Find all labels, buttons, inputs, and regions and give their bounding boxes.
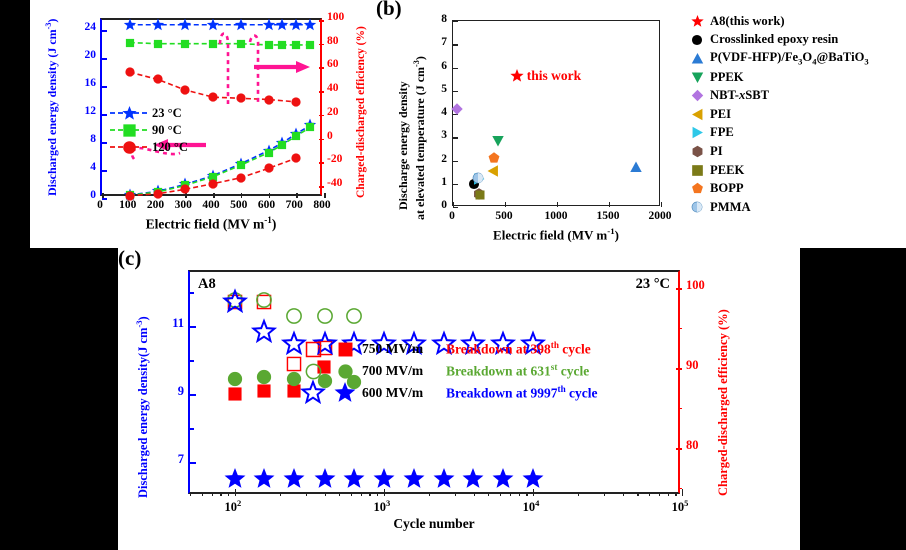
- panel-a-ytick-right: -40: [327, 177, 353, 189]
- panel-c-xtick: 104: [511, 498, 551, 515]
- panel-c-xtick: 102: [213, 498, 253, 515]
- panel-a-legend-label: 23 °C: [152, 106, 182, 121]
- panel-b-legend: A8(this work)Crosslinked epoxy resinP(VD…: [684, 12, 869, 217]
- panel-c-point: [314, 468, 336, 490]
- panel-c-label: (c): [118, 246, 141, 271]
- panel-b-legend-item[interactable]: PEI: [684, 105, 869, 124]
- panel-b-legend-item[interactable]: Crosslinked epoxy resin: [684, 31, 869, 50]
- panel-c-point: [227, 386, 243, 402]
- panel-c-chart: (c)A823 °C750 MV/mBreakdown at 398th cyc…: [118, 248, 800, 550]
- panel-c-legend-field: 750 MV/m: [362, 341, 446, 357]
- panel-c-point: [433, 468, 455, 490]
- panel-c-legend-filled-marker: [328, 363, 362, 380]
- panel-a-legend: 23 °C90 °C120 °C: [110, 105, 188, 156]
- panel-b-xtick: 0: [434, 210, 470, 222]
- panel-c-point: [462, 468, 484, 490]
- panel-b-ytick: 4: [432, 106, 447, 118]
- panel-b-legend-marker: [684, 71, 710, 84]
- panel-c-point: [224, 291, 246, 313]
- panel-c-legend: 750 MV/mBreakdown at 398th cycle700 MV/m…: [298, 338, 598, 404]
- panel-c-point: [492, 468, 514, 490]
- panel-b-legend-label: A8(this work): [710, 14, 785, 29]
- panel-b-legend-item[interactable]: P(VDF-HFP)/Fe3O4@BaTiO3: [684, 49, 869, 68]
- panel-c-legend-item[interactable]: 600 MV/mBreakdown at 9997th cycle: [298, 382, 598, 404]
- panel-a-xtick: 200: [142, 199, 170, 211]
- panel-b-yaxis-label-line1: Discharge energy density: [396, 81, 411, 210]
- panel-c-point: [253, 468, 275, 490]
- panel-a-ytick-left: 0: [76, 189, 96, 201]
- panel-b-legend-label: PEEK: [710, 163, 744, 178]
- panel-c-yaxis-label-left: Discharged energy density(J cm-3): [134, 316, 151, 498]
- panel-c-ytick-left: 11: [164, 316, 184, 331]
- panel-c-ytick-right: 100: [686, 278, 712, 293]
- panel-b-point: [491, 135, 504, 148]
- panel-c-point: [226, 370, 243, 387]
- panel-b-ytick: 2: [432, 153, 447, 165]
- panel-c-sample-label: A8: [198, 276, 216, 293]
- panel-b-point: [472, 172, 484, 184]
- panel-a-xtick: 100: [114, 199, 142, 211]
- panel-a-legend-marker: [122, 106, 137, 121]
- panel-b-legend-label: PPEK: [710, 70, 744, 85]
- panel-a-legend-marker: [122, 140, 137, 155]
- panel-a-ytick-right: 60: [327, 58, 353, 70]
- panel-b-ytick: 3: [432, 129, 447, 141]
- panel-c-ytick-left: 7: [164, 452, 184, 467]
- panel-c-legend-item[interactable]: 700 MV/mBreakdown at 631st cycle: [298, 360, 598, 382]
- panel-b-legend-item[interactable]: BOPP: [684, 179, 869, 198]
- panel-c-plot-area: A823 °C750 MV/mBreakdown at 398th cycle7…: [188, 270, 680, 494]
- panel-a-xtick: 400: [197, 199, 225, 211]
- panel-b-this-work-annotation: this work: [510, 68, 581, 84]
- panel-a-ytick-right: 20: [327, 106, 353, 118]
- panel-a-yaxis-label-right: Charged-discharged efficiency (%): [355, 26, 367, 198]
- panel-b-legend-marker: [684, 164, 710, 177]
- panel-c-point: [373, 468, 395, 490]
- panel-c-ytick-right: 90: [686, 358, 712, 373]
- panel-c-legend-breakdown: Breakdown at 631st cycle: [446, 362, 589, 380]
- panel-b-legend-item[interactable]: PPEK: [684, 68, 869, 87]
- panel-a-ytick-left: 8: [76, 133, 96, 145]
- panel-a-yaxis-label-left: Discharged energy density (J cm-3): [44, 19, 60, 196]
- panel-b-legend-label: FPE: [710, 125, 734, 140]
- panel-c-point: [346, 308, 363, 325]
- panel-b-legend-marker: [684, 52, 710, 65]
- panel-a-xtick: 300: [169, 199, 197, 211]
- panel-a-legend-label: 120 °C: [152, 140, 188, 155]
- panel-b-xaxis-label: Electric field (MV m-1): [452, 226, 660, 243]
- panel-c-point: [224, 468, 246, 490]
- panel-a-xtick: 800: [308, 199, 336, 211]
- panel-a-legend-label: 90 °C: [152, 123, 182, 138]
- panel-a-legend-item[interactable]: 120 °C: [110, 139, 188, 156]
- panel-b-legend-item[interactable]: FPE: [684, 124, 869, 143]
- panel-a-chart: 23 °C90 °C120 °C010020030040050060070080…: [30, 0, 380, 248]
- panel-c-point: [343, 468, 365, 490]
- panel-c-legend-breakdown: Breakdown at 9997th cycle: [446, 384, 598, 402]
- panel-b-xtick: 2000: [642, 210, 678, 222]
- panel-c-point: [256, 292, 273, 309]
- panel-c-point: [253, 321, 275, 343]
- panel-b-point: [630, 161, 643, 174]
- panel-c-yaxis-label-right: Charged-discharged efficiency (%): [716, 309, 731, 496]
- panel-b-ytick: 8: [432, 13, 447, 25]
- panel-c-legend-item[interactable]: 750 MV/mBreakdown at 398th cycle: [298, 338, 598, 360]
- panel-c-temperature-label: 23 °C: [636, 276, 670, 293]
- panel-c-xaxis-label: Cycle number: [188, 516, 680, 532]
- panel-c-legend-open-marker: [298, 382, 328, 404]
- panel-b-legend-marker: [684, 89, 710, 102]
- panel-a-ytick-left: 16: [76, 77, 96, 89]
- panel-b-legend-label: PMMA: [710, 200, 751, 215]
- panel-b-legend-marker: [684, 182, 710, 195]
- panel-b-legend-item[interactable]: NBT-xSBT: [684, 86, 869, 105]
- panel-b-ytick: 5: [432, 83, 447, 95]
- panel-a-ytick-right: 100: [327, 11, 353, 23]
- panel-b-legend-label: PI: [710, 144, 723, 159]
- panel-b-ytick: 0: [432, 199, 447, 211]
- panel-b-chart: (b)this work0500100015002000012345678Ele…: [380, 0, 906, 248]
- panel-a-plot-area: 23 °C90 °C120 °C: [100, 18, 322, 196]
- panel-b-plot-area: this work: [452, 20, 660, 206]
- panel-b-legend-marker: [684, 15, 710, 28]
- panel-b-this-work-text: this work: [527, 68, 581, 84]
- panel-b-ytick: 1: [432, 176, 447, 188]
- panel-b-yaxis-label-line2: at elevated temperature (J cm-3): [412, 56, 428, 220]
- panel-a-ytick-left: 12: [76, 105, 96, 117]
- panel-c-legend-open-marker: [298, 363, 328, 380]
- panel-b-this-work-star-icon: [510, 69, 524, 83]
- panel-b-legend-label: Crosslinked epoxy resin: [710, 32, 838, 47]
- panel-b-point: [487, 151, 500, 164]
- panel-b-legend-item[interactable]: PMMA: [684, 198, 869, 217]
- panel-c-legend-filled-marker: [328, 341, 362, 358]
- panel-b-label: (b): [376, 0, 402, 21]
- panel-c-legend-breakdown: Breakdown at 398th cycle: [446, 340, 591, 358]
- panel-a-ytick-left: 20: [76, 49, 96, 61]
- panel-c-point: [286, 308, 303, 325]
- panel-a-ytick-right: 40: [327, 82, 353, 94]
- panel-b-legend-marker: [684, 108, 710, 121]
- panel-b-legend-marker: [684, 145, 710, 158]
- panel-b-xtick: 500: [486, 210, 522, 222]
- panel-c-point: [522, 468, 544, 490]
- panel-a-ytick-left: 24: [76, 21, 96, 33]
- panel-c-legend-filled-marker: [328, 382, 362, 404]
- panel-c-xtick: 103: [362, 498, 402, 515]
- panel-a-xtick: 700: [280, 199, 308, 211]
- panel-b-xtick: 1000: [538, 210, 574, 222]
- panel-a-xtick: 500: [225, 199, 253, 211]
- panel-b-legend-label: BOPP: [710, 181, 744, 196]
- panel-b-legend-item[interactable]: PEEK: [684, 161, 869, 180]
- panel-a-ytick-right: 0: [327, 130, 353, 142]
- panel-a-legend-item[interactable]: 23 °C: [110, 105, 188, 122]
- panel-c-ytick-right: 80: [686, 438, 712, 453]
- panel-b-legend-marker: [684, 201, 710, 213]
- panel-a-legend-marker: [122, 123, 137, 138]
- panel-b-legend-label: P(VDF-HFP)/Fe3O4@BaTiO3: [710, 50, 869, 67]
- panel-a-legend-item[interactable]: 90 °C: [110, 122, 188, 139]
- panel-b-point: [487, 164, 500, 177]
- panel-c-legend-field: 700 MV/m: [362, 363, 446, 379]
- panel-c-ytick-left: 9: [164, 384, 184, 399]
- panel-a-xaxis-label: Electric field (MV m-1): [100, 215, 322, 233]
- panel-b-legend-label: PEI: [710, 107, 731, 122]
- panel-b-xtick: 1500: [590, 210, 626, 222]
- panel-a-ytick-left: 4: [76, 161, 96, 173]
- panel-b-legend-marker: [684, 34, 710, 46]
- panel-c-legend-field: 600 MV/m: [362, 385, 446, 401]
- panel-c-point: [283, 468, 305, 490]
- panel-c-point: [256, 369, 273, 386]
- panel-b-ytick: 7: [432, 36, 447, 48]
- panel-b-point: [450, 103, 463, 116]
- panel-c-point: [316, 308, 333, 325]
- panel-b-legend-marker: [684, 126, 710, 139]
- panel-b-point: [474, 190, 485, 201]
- panel-b-legend-item[interactable]: A8(this work): [684, 12, 869, 31]
- panel-c-legend-open-marker: [298, 341, 328, 358]
- panel-a-ytick-right: -20: [327, 153, 353, 165]
- panel-a-ytick-right: 80: [327, 35, 353, 47]
- panel-a-xtick: 600: [253, 199, 281, 211]
- panel-c-xtick: 105: [660, 498, 700, 515]
- panel-b-legend-item[interactable]: PI: [684, 142, 869, 161]
- panel-b-ytick: 6: [432, 60, 447, 72]
- panel-c-point: [403, 468, 425, 490]
- panel-b-legend-label: NBT-xSBT: [710, 88, 769, 103]
